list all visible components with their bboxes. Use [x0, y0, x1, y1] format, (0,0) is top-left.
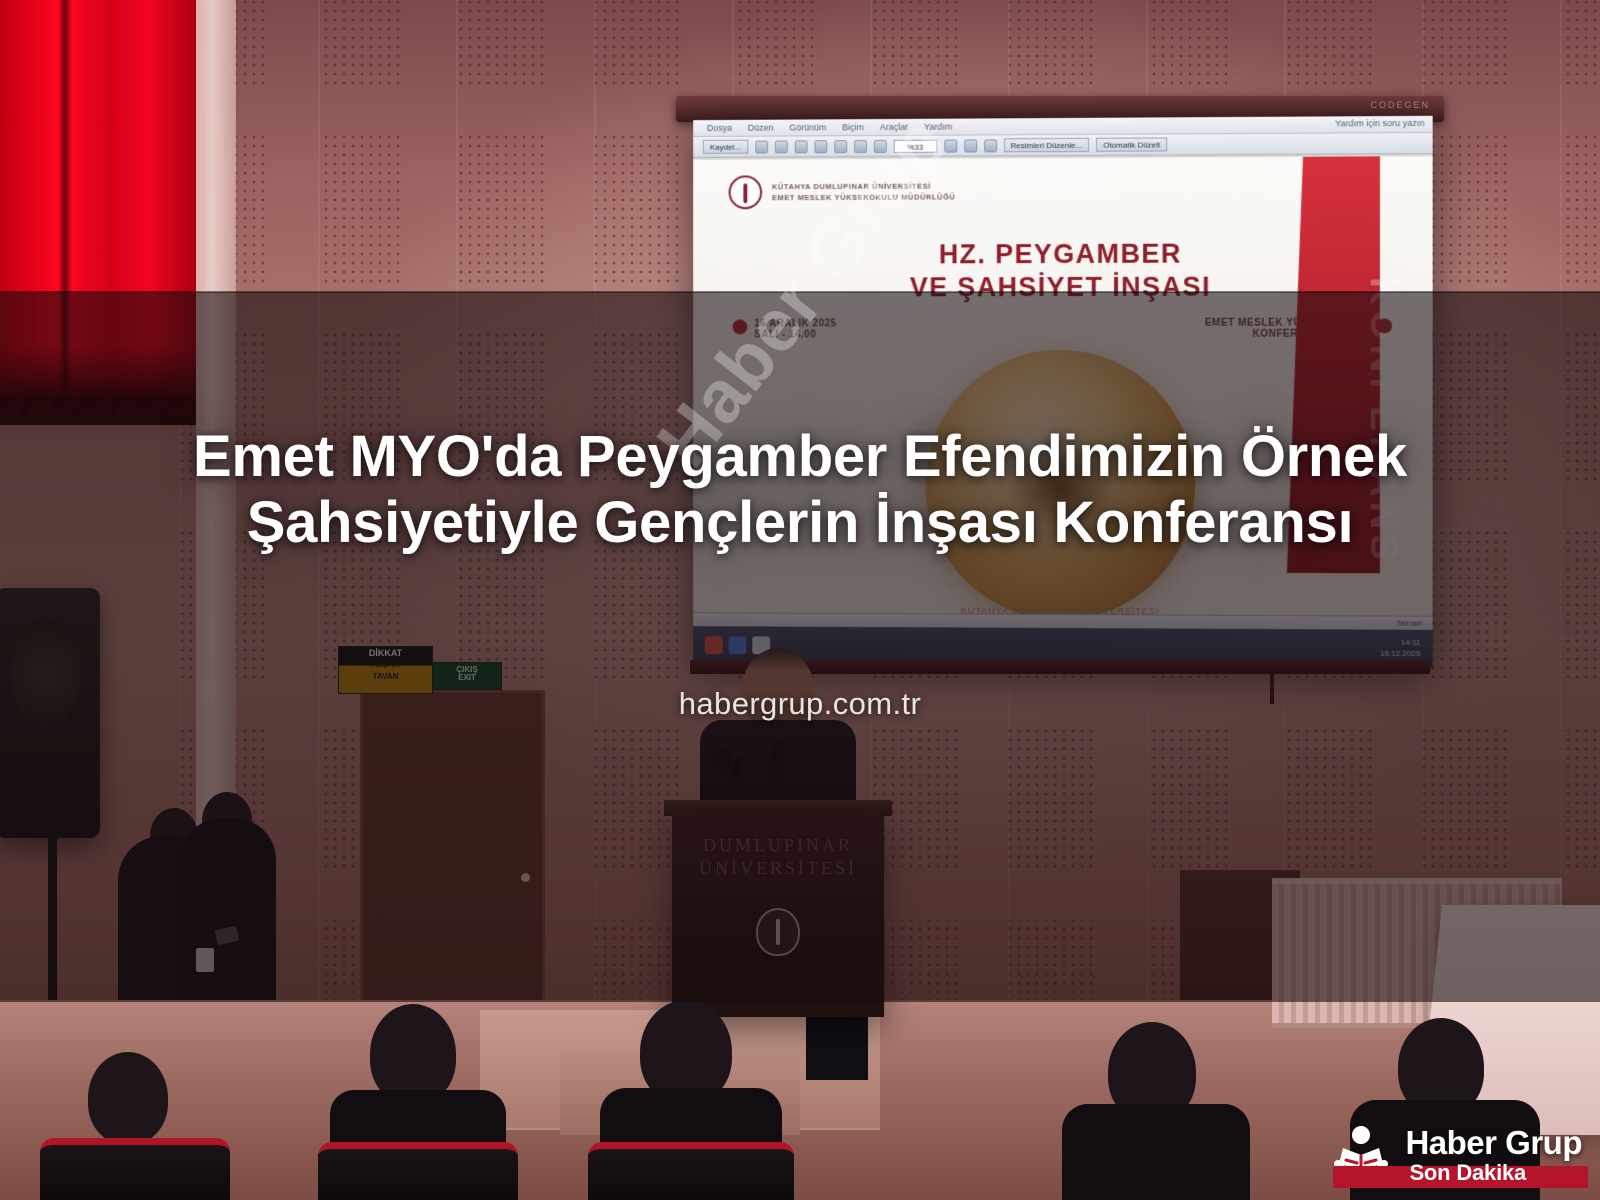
poster-org-line2: EMET MESLEK YÜKSEKOKULU MÜDÜRLÜĞÜ	[772, 192, 955, 202]
poster-org-line1: KÜTAHYA DUMLUPINAR ÜNİVERSİTESİ	[772, 181, 955, 191]
menu-item-gorunum[interactable]: Görünüm	[789, 122, 826, 132]
edit-pictures-button[interactable]: Resimleri Düzenle...	[1004, 138, 1089, 152]
exit-sign-line2: EXIT	[458, 673, 476, 682]
help-search-hint: Yardım için soru yazın	[1335, 118, 1425, 129]
spellcheck-icon[interactable]	[794, 140, 807, 153]
poster-meta: 16 ARALIK 2025 SALI - 14.00 EMET MESLEK …	[733, 317, 1393, 340]
rotate-right-icon[interactable]	[984, 139, 997, 152]
app-icon-blue[interactable]	[729, 636, 747, 654]
speaker-podium: DUMLUPINAR ÜNİVERSİTESİ	[672, 812, 884, 1017]
presenter-necktie	[769, 742, 784, 800]
app-icon-red[interactable]	[705, 636, 723, 654]
projection-screen: Dosya Düzen Görünüm Biçim Araçlar Yardım…	[693, 116, 1433, 668]
poster-date-line2: SALI - 14.00	[754, 329, 836, 340]
scroll-strip-label: Tamam	[1396, 619, 1423, 628]
menu-item-bicim[interactable]: Biçim	[842, 122, 864, 132]
zoom-glass-icon[interactable]	[944, 139, 957, 152]
site-url-label: habergrup.com.tr	[0, 686, 1600, 722]
menu-item-dosya[interactable]: Dosya	[707, 123, 732, 133]
zoom-level-input[interactable]: %33	[893, 139, 937, 152]
conference-photo: CODEGEN Dosya Düzen Görünüm Biçim Araçla…	[0, 0, 1600, 1200]
poster-header: KÜTAHYA DUMLUPINAR ÜNİVERSİTESİ EMET MES…	[729, 174, 956, 209]
poster-date-line1: 16 ARALIK 2025	[754, 318, 836, 329]
brand-logo-text: Haber Grup Son Dakika	[1405, 1126, 1582, 1184]
toolbar-save-button[interactable]: Kaydet...	[703, 140, 748, 154]
auto-correct-button[interactable]: Otomatik Düzelt	[1096, 137, 1167, 151]
page-title: Emet MYO'da Peygamber Efendimizin Örnek …	[60, 424, 1540, 555]
brand-logo[interactable]: Haber Grup Son Dakika	[1329, 1124, 1582, 1186]
brand-name: Haber Grup	[1405, 1126, 1582, 1159]
clock-date: 16.12.2025	[1380, 649, 1421, 660]
caution-sign-line2: TAVAN	[373, 673, 399, 681]
audience-chair-1	[40, 1138, 230, 1200]
cut-icon[interactable]	[814, 140, 827, 153]
presenter-microphone-head	[712, 748, 732, 770]
housing-brand-label: CODEGEN	[1370, 100, 1430, 110]
poster-org-lines: KÜTAHYA DUMLUPINAR ÜNİVERSİTESİ EMET MES…	[772, 181, 955, 202]
university-seal-icon	[729, 175, 763, 209]
screenshot-root: CODEGEN Dosya Düzen Görünüm Biçim Araçla…	[0, 0, 1600, 1200]
system-clock: 14:11 16.12.2025	[1380, 638, 1421, 660]
podium-line-2: ÜNİVERSİTESİ	[699, 858, 857, 878]
copy-icon[interactable]	[834, 140, 847, 153]
caution-sign-line1: ALÇAK	[372, 661, 400, 669]
poster-date-text: 16 ARALIK 2025 SALI - 14.00	[754, 318, 836, 340]
audience-body-4	[1062, 1104, 1250, 1200]
attendee-id-badge	[196, 948, 214, 972]
conference-poster-slide: KÜTAHYA DUMLUPINAR ÜNİVERSİTESİ EMET MES…	[693, 156, 1433, 630]
podium-university-crest-icon	[756, 908, 800, 956]
audience-head-1	[88, 1052, 168, 1144]
taskbar-icons[interactable]	[705, 636, 770, 654]
curtain-hem	[0, 345, 205, 425]
menu-item-yardim[interactable]: Yardım	[924, 122, 952, 132]
poster-date-block: 16 ARALIK 2025 SALI - 14.00	[733, 318, 837, 340]
caution-sign-title: DİKKAT	[369, 649, 402, 658]
delete-icon[interactable]	[873, 139, 886, 152]
brand-tagline-wrap: Son Dakika	[1405, 1162, 1582, 1184]
menu-item-araclar[interactable]: Araçlar	[880, 122, 908, 132]
menu-item-duzen[interactable]: Düzen	[748, 123, 774, 133]
app-toolbar[interactable]: Kaydet... %33 Resimleri Düzenle... Otoma…	[693, 133, 1433, 158]
brand-tagline: Son Dakika	[1405, 1162, 1582, 1184]
audience-head-2	[370, 1004, 456, 1104]
print-preview-icon[interactable]	[775, 140, 788, 153]
podium-line-1: DUMLUPINAR	[703, 835, 853, 855]
paste-icon[interactable]	[854, 140, 867, 153]
audience-chair-2	[318, 1142, 518, 1200]
rotate-left-icon[interactable]	[964, 139, 977, 152]
clock-time: 14:11	[1380, 638, 1421, 649]
calendar-icon	[733, 319, 748, 334]
podium-inscription: DUMLUPINAR ÜNİVERSİTESİ	[672, 834, 884, 879]
scrim-top-divider	[0, 291, 1600, 293]
audience-chair-3	[588, 1142, 794, 1200]
print-icon[interactable]	[755, 140, 768, 153]
